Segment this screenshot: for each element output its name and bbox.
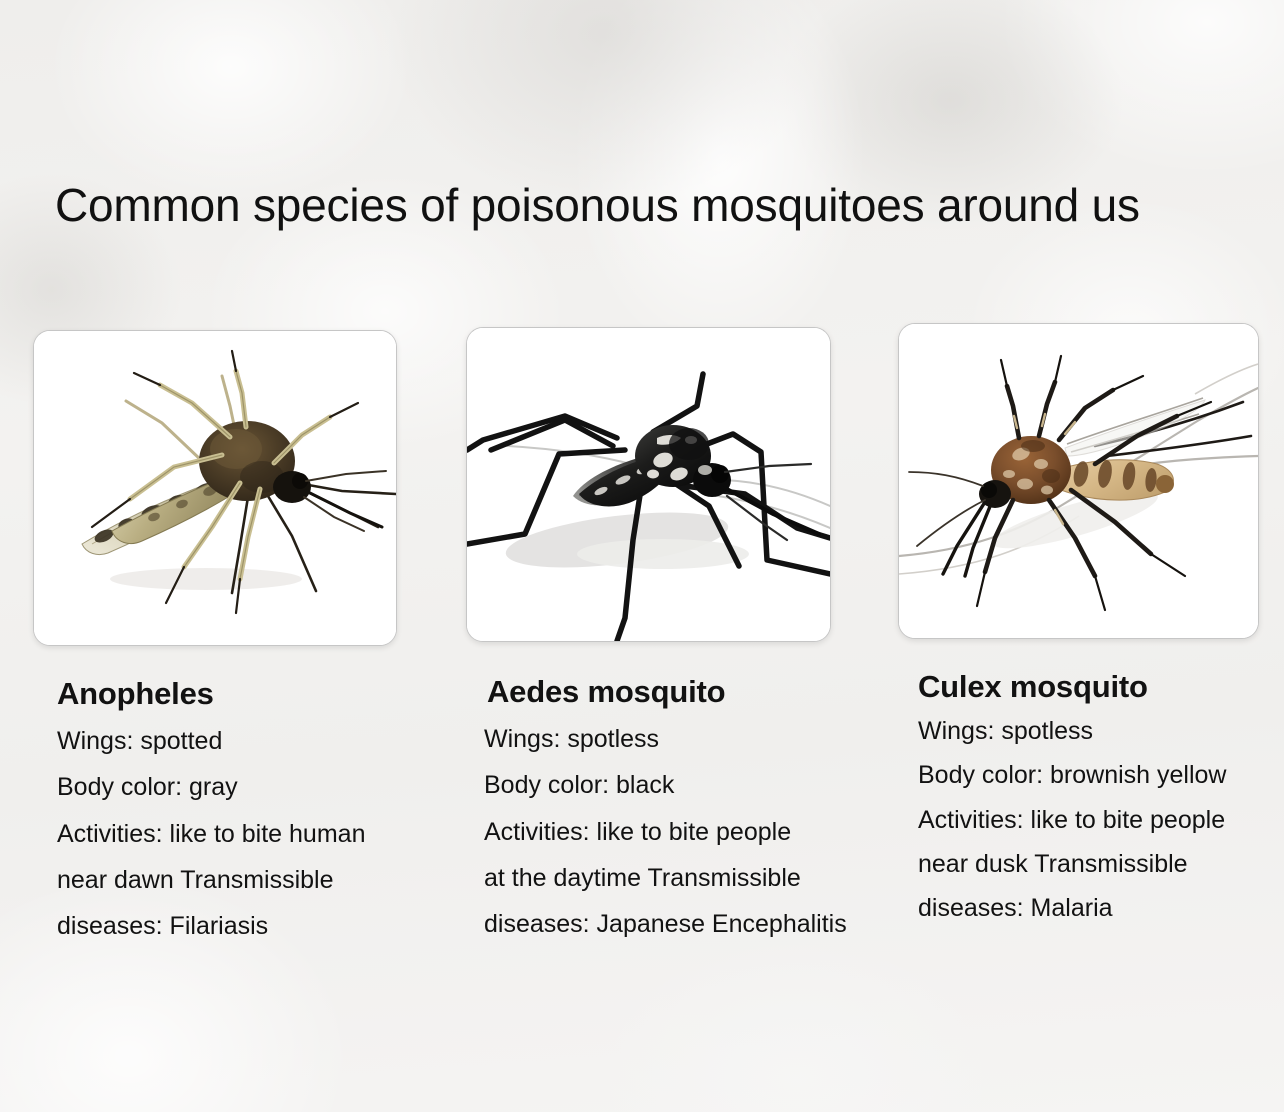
species-detail-body-color: Body color: gray — [57, 774, 365, 800]
species-name-anopheles: Anopheles — [57, 676, 365, 712]
aedes-mosquito-photo — [467, 328, 830, 641]
species-detail-diseases: diseases: Filariasis — [57, 913, 365, 939]
species-name-aedes: Aedes mosquito — [487, 674, 847, 710]
species-detail-body-color: Body color: brownish yellow — [918, 762, 1226, 788]
species-detail-body-color: Body color: black — [484, 772, 847, 798]
anopheles-mosquito-photo — [34, 331, 396, 645]
culex-mosquito-photo — [899, 324, 1258, 638]
species-detail-activities: Activities: like to bite human — [57, 821, 365, 847]
species-text-aedes: Aedes mosquito Wings: spotless Body colo… — [484, 674, 847, 937]
species-card-anopheles — [33, 330, 397, 646]
species-detail-diseases: diseases: Japanese Encephalitis — [484, 911, 847, 937]
infographic-poster: Common species of poisonous mosquitoes a… — [0, 0, 1284, 1112]
species-detail-activities: Activities: like to bite people — [484, 819, 847, 845]
species-text-anopheles: Anopheles Wings: spotted Body color: gra… — [57, 676, 365, 939]
species-name-culex: Culex mosquito — [918, 669, 1226, 705]
species-text-culex: Culex mosquito Wings: spotless Body colo… — [918, 669, 1226, 939]
species-detail-activities-cont: near dusk Transmissible — [918, 851, 1226, 877]
species-detail-wings: Wings: spotted — [57, 728, 365, 754]
species-detail-activities-cont: near dawn Transmissible — [57, 867, 365, 893]
species-card-aedes — [466, 327, 831, 642]
species-detail-wings: Wings: spotless — [918, 718, 1226, 744]
page-title: Common species of poisonous mosquitoes a… — [55, 178, 1140, 232]
species-detail-activities: Activities: like to bite people — [918, 807, 1226, 833]
species-card-culex — [898, 323, 1259, 639]
species-detail-activities-cont: at the daytime Transmissible — [484, 865, 847, 891]
species-detail-wings: Wings: spotless — [484, 726, 847, 752]
species-detail-diseases: diseases: Malaria — [918, 895, 1226, 921]
